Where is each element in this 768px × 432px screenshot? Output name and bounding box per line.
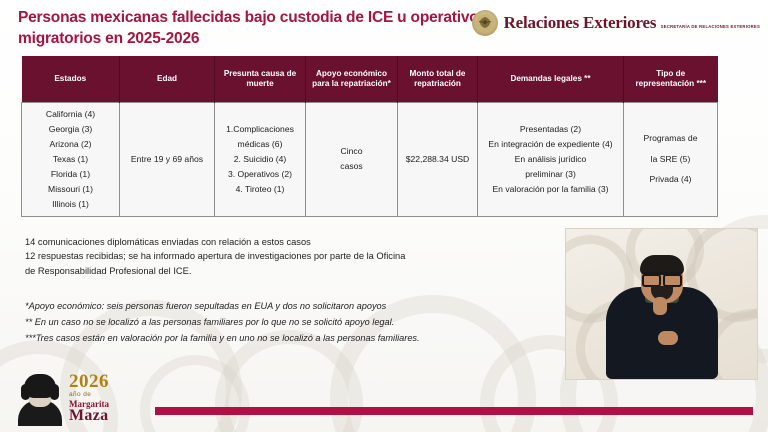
slide-canvas: Personas mexicanas fallecidas bajo custo… [0, 0, 768, 432]
column-header-apoyo-economico: Apoyo económico para la repatriación* [306, 56, 398, 102]
footnote-tipo-representacion: ***Tres casos están en valoración por la… [25, 331, 550, 347]
causa-item: 3. Operativos (2) [218, 167, 302, 182]
demanda-item: Presentadas (2) [481, 122, 620, 137]
column-header-estados: Estados [22, 56, 120, 102]
demanda-item: preliminar (3) [481, 167, 620, 182]
column-header-presunta-causa-de-muerte: Presunta causa de muerte [215, 56, 306, 102]
background-swirl-decoration [140, 355, 250, 432]
year-maza-label: Maza [69, 408, 109, 424]
apoyo-item: Cinco [309, 144, 394, 159]
apoyo-item: casos [309, 159, 394, 174]
brand-subtitle: Secretaría de Relaciones Exteriores [661, 24, 760, 29]
cell-estados: California (4) Georgia (3) Arizona (2) T… [22, 102, 120, 216]
note-line: de Responsabilidad Profesional del ICE. [25, 264, 545, 278]
deaths-summary-table: Estados Edad Presunta causa de muerte Ap… [21, 56, 718, 217]
estado-item: Texas (1) [25, 152, 116, 167]
column-header-tipo-de-representacion: Tipo de representación *** [624, 56, 718, 102]
estado-item: Georgia (3) [25, 122, 116, 137]
brand-logo: Relaciones Exteriores Secretaría de Rela… [472, 10, 760, 36]
sign-language-interpreter-video[interactable] [565, 228, 758, 380]
causa-item: 1.Complicaciones [218, 122, 302, 137]
demanda-item: En valoración por la familia (3) [481, 182, 620, 197]
year-number: 2026 [69, 372, 109, 391]
interpreter-figure [603, 255, 721, 379]
estado-item: California (4) [25, 107, 116, 122]
column-header-demandas-legales: Demandas legales ** [478, 56, 624, 102]
cell-demandas-legales: Presentadas (2) En integración de expedi… [478, 102, 624, 216]
column-header-monto-total: Monto total de repatriación [398, 56, 478, 102]
estado-item: Arizona (2) [25, 137, 116, 152]
footnote-apoyo-economico: *Apoyo económico: seis personas fueron s… [25, 299, 550, 315]
tipo-item: la SRE (5) [627, 149, 714, 170]
brand-text-block: Relaciones Exteriores Secretaría de Rela… [504, 14, 760, 32]
interpreter-glasses [642, 272, 682, 284]
tipo-item: Privada (4) [627, 169, 714, 190]
table-row: California (4) Georgia (3) Arizona (2) T… [22, 102, 718, 216]
table-head: Estados Edad Presunta causa de muerte Ap… [22, 56, 718, 102]
monto-value: $22,288.34 USD [401, 152, 474, 167]
demanda-item: En integración de expediente (4) [481, 137, 620, 152]
year-logo-text: 2026 año de Margarita Maza [69, 372, 109, 424]
edad-value: Entre 19 y 69 años [123, 152, 211, 167]
cell-monto-total: $22,288.34 USD [398, 102, 478, 216]
table-header-row: Estados Edad Presunta causa de muerte Ap… [22, 56, 718, 102]
demanda-item: En análisis jurídico [481, 152, 620, 167]
column-header-edad: Edad [120, 56, 215, 102]
table-body: California (4) Georgia (3) Arizona (2) T… [22, 102, 718, 216]
cell-presunta-causa: 1.Complicaciones médicas (6) 2. Suicidio… [215, 102, 306, 216]
note-line: 14 comunicaciones diplomáticas enviadas … [25, 235, 545, 249]
estado-item: Missouri (1) [25, 182, 116, 197]
footnote-demandas-legales: ** En un caso no se localizó a las perso… [25, 315, 550, 331]
brand-name: Relaciones Exteriores [504, 13, 657, 32]
interpreter-signing-hand-lower [658, 331, 678, 345]
cell-edad: Entre 19 y 69 años [120, 102, 215, 216]
tipo-item: Programas de [627, 128, 714, 149]
note-line: 12 respuestas recibidas; se ha informado… [25, 249, 545, 263]
cell-tipo-representacion: Programas de la SRE (5) Privada (4) [624, 102, 718, 216]
mexican-eagle-emblem-icon [472, 10, 498, 36]
notes-block: 14 comunicaciones diplomáticas enviadas … [25, 235, 545, 278]
margarita-maza-portrait-icon [16, 370, 64, 426]
year-ano-de-label: año de [69, 392, 109, 399]
causa-item: 4. Tiroteo (1) [218, 182, 302, 197]
interpreter-signing-hand-upper [653, 297, 667, 315]
footnotes-block: *Apoyo económico: seis personas fueron s… [25, 299, 550, 346]
causa-item: médicas (6) [218, 137, 302, 152]
year-2026-logo: 2026 año de Margarita Maza [16, 370, 109, 426]
causa-item: 2. Suicidio (4) [218, 152, 302, 167]
estado-item: Illinois (1) [25, 197, 116, 212]
bottom-accent-bar [155, 407, 753, 415]
data-table-container: Estados Edad Presunta causa de muerte Ap… [21, 56, 717, 217]
portrait-hair [24, 374, 56, 398]
estado-item: Florida (1) [25, 167, 116, 182]
cell-apoyo-economico: Cinco casos [306, 102, 398, 216]
